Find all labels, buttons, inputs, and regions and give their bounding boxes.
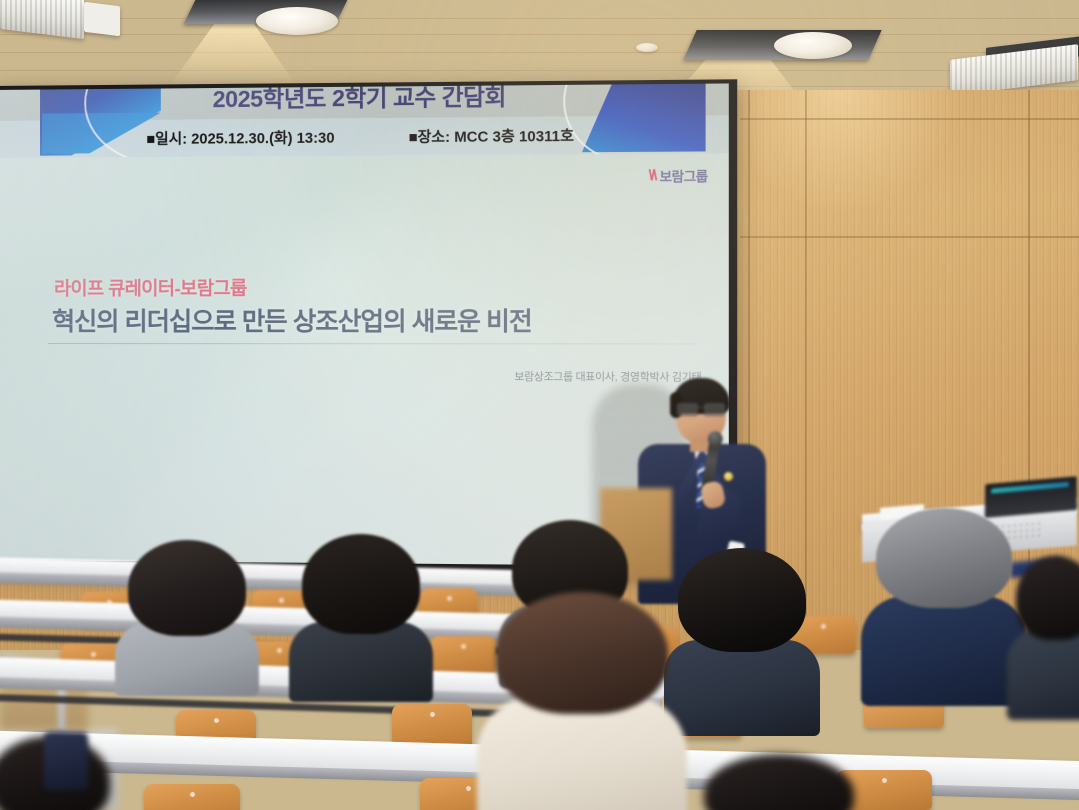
wall-panel-seam bbox=[740, 236, 1079, 238]
attendee-hair bbox=[1016, 556, 1079, 640]
attendee-clothing bbox=[861, 596, 1027, 706]
event-date: ■일시: 2025.12.30.(화) 13:30 bbox=[146, 126, 334, 149]
attendee-hair bbox=[704, 754, 854, 810]
glasses-icon bbox=[677, 403, 725, 414]
attendee-clothing bbox=[1007, 628, 1079, 720]
attendee-hair bbox=[876, 508, 1012, 608]
logo-text: 보람그룹 bbox=[660, 166, 708, 186]
ceiling-light bbox=[774, 32, 852, 59]
audience-member bbox=[678, 548, 806, 718]
slide-divider bbox=[48, 343, 695, 344]
wall-light-glow bbox=[720, 90, 960, 210]
audience-member bbox=[128, 540, 246, 680]
ceiling-light bbox=[636, 43, 658, 52]
attendee-hair bbox=[496, 592, 668, 714]
ceiling-light bbox=[256, 7, 338, 35]
logo-mark-icon: \/\ bbox=[649, 167, 656, 184]
attendee-hair bbox=[678, 548, 806, 652]
lecture-chair bbox=[144, 784, 240, 810]
presenter-lapel-pin bbox=[724, 472, 733, 481]
wall-panel-seam bbox=[740, 118, 1079, 120]
audience-member bbox=[704, 754, 854, 810]
event-place: ■장소: MCC 3층 10311호 bbox=[409, 124, 574, 147]
lecture-chair bbox=[430, 636, 496, 674]
attendee-clothing bbox=[289, 622, 433, 702]
bag-under-desk bbox=[44, 732, 88, 790]
slide-header-band: 2025학년도 2학기 교수 간담회 ■일시: 2025.12.30.(화) 1… bbox=[0, 83, 729, 157]
audience-member bbox=[496, 592, 668, 810]
audience-seating bbox=[0, 540, 1079, 810]
attendee-clothing bbox=[664, 640, 820, 736]
audience-member bbox=[1016, 556, 1079, 706]
audience-member bbox=[876, 508, 1012, 690]
audience-member bbox=[302, 534, 420, 682]
lecture-hall-photo: 라이프 큐레이터-보람그룹 혁신의 리더십으로 만든 상조산업의 새로운 비전 … bbox=[0, 0, 1079, 810]
attendee-hair bbox=[302, 534, 420, 634]
event-info-row: ■일시: 2025.12.30.(화) 13:30 ■장소: MCC 3층 10… bbox=[0, 118, 729, 154]
brand-logo: \/\ 보람그룹 bbox=[649, 166, 708, 186]
lecture-desk-row bbox=[0, 557, 550, 588]
slide-title: 혁신의 리더십으로 만든 상조산업의 새로운 비전 bbox=[52, 301, 532, 338]
air-conditioning-unit bbox=[84, 2, 120, 36]
attendee-hair bbox=[128, 540, 246, 636]
slide-eyebrow: 라이프 큐레이터-보람그룹 bbox=[54, 275, 247, 301]
